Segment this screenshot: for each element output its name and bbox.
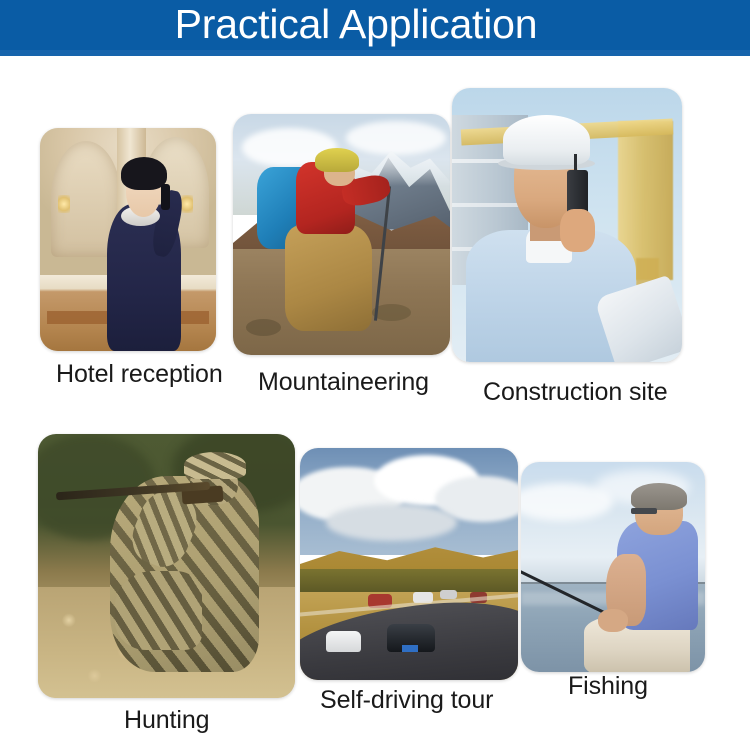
- page-title: Practical Application: [0, 0, 750, 50]
- photo-self-driving-tour: [300, 448, 518, 680]
- label-mountaineering: Mountaineering: [258, 368, 429, 397]
- card-hunting[interactable]: [38, 434, 295, 698]
- photo-hotel-reception: [40, 128, 216, 351]
- header-underline: [0, 50, 750, 56]
- card-mountaineering[interactable]: [233, 114, 450, 355]
- photo-fishing: [521, 462, 705, 672]
- label-self-driving-tour: Self-driving tour: [320, 686, 493, 715]
- photo-hunting: [38, 434, 295, 698]
- photo-construction-site: [452, 88, 682, 362]
- label-fishing: Fishing: [568, 672, 648, 701]
- card-self-driving-tour[interactable]: [300, 448, 518, 680]
- label-hotel-reception: Hotel reception: [56, 360, 223, 389]
- photo-mountaineering: [233, 114, 450, 355]
- card-hotel-reception[interactable]: [40, 128, 216, 351]
- card-construction-site[interactable]: [452, 88, 682, 362]
- label-construction-site: Construction site: [483, 378, 668, 407]
- card-fishing[interactable]: [521, 462, 705, 672]
- label-hunting: Hunting: [124, 706, 209, 735]
